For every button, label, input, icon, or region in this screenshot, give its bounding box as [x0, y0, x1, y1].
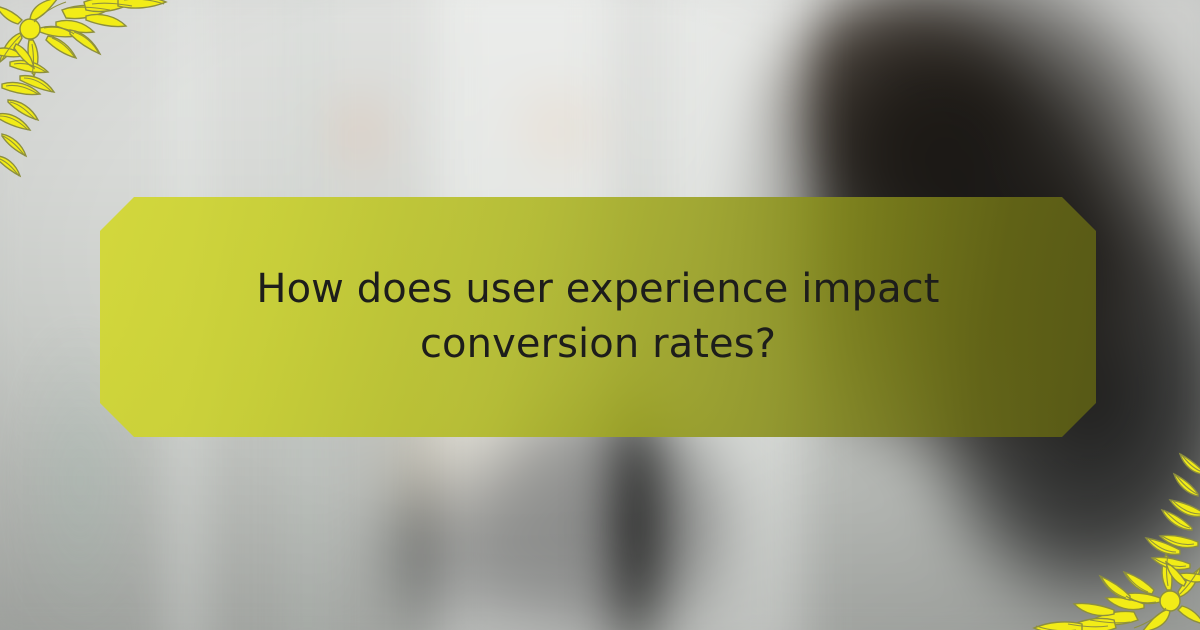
social-card: How does user experience impact conversi…: [0, 0, 1200, 630]
headline-banner: How does user experience impact conversi…: [100, 197, 1096, 437]
page-title: How does user experience impact conversi…: [203, 262, 993, 372]
